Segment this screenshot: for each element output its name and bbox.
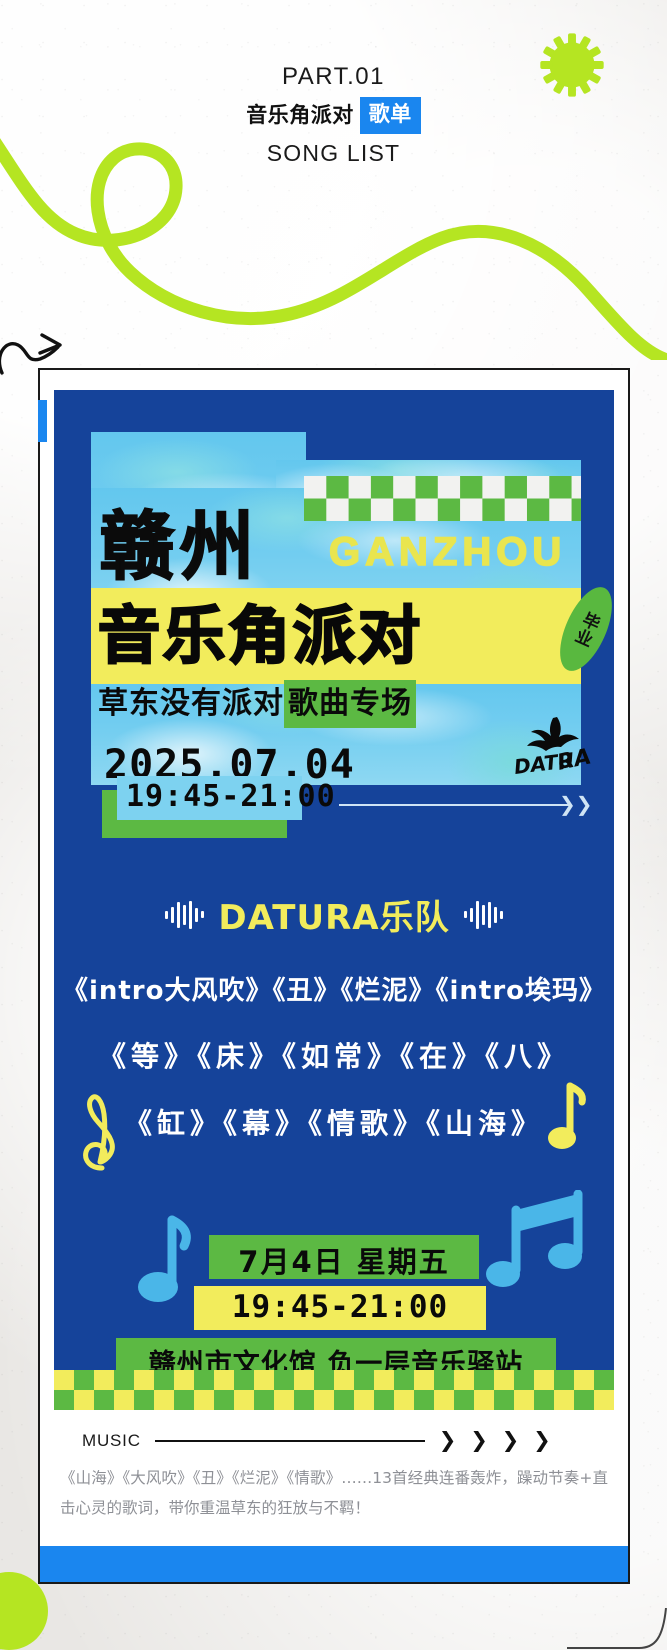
band-name-row: DATURA乐队 (54, 890, 614, 939)
concert-poster: 赣州 GANZHOU 音乐角派对 毕业 草东没有派对 歌曲专场 2025.07.… (54, 390, 614, 1410)
poster-checker-footer (54, 1370, 614, 1410)
poster-main-title: 音乐角派对 (98, 590, 423, 682)
poster-time-big: 19:45-21:00 (194, 1289, 486, 1325)
song-row: 《缸》《幕》《情歌》《山海》 (54, 1102, 614, 1142)
caption-section: MUSIC ❯ ❯ ❯ ❯ 《山海》《大风吹》《丑》《烂泥》《情歌》……13首经… (54, 1428, 614, 1523)
band-name: DATURA乐队 (218, 890, 449, 939)
poster-time: 19:45-21:00 (126, 779, 336, 814)
part-label: PART.01 (0, 62, 667, 92)
poster-city-cn: 赣州 (100, 508, 260, 586)
song-row: 《intro大风吹》《丑》《烂泥》《intro埃玛》 (54, 970, 614, 1007)
beamed-notes-blue-icon (486, 1190, 591, 1300)
poster-subtitle-row: 草东没有派对 歌曲专场 (98, 680, 416, 728)
green-checker-strip (304, 476, 581, 521)
chevron-right-icon: ❯❯ (559, 795, 593, 815)
waveform-right-icon (464, 900, 503, 930)
chevrons-icon: ❯ ❯ ❯ ❯ (439, 1428, 555, 1453)
music-divider-line (155, 1440, 425, 1442)
page-header: PART.01 音乐角派对 歌单 SONG LIST (0, 62, 667, 167)
waveform-left-icon (165, 900, 204, 930)
eighth-note-blue-icon (134, 1208, 194, 1308)
header-tag-badge: 歌单 (360, 97, 421, 134)
song-row: 《等》《床》《如常》《在》《八》 (54, 1035, 614, 1075)
poster-subtitle-highlight: 歌曲专场 (284, 680, 416, 728)
header-chinese-row: 音乐角派对 歌单 (0, 97, 667, 134)
header-cn-title: 音乐角派对 (246, 100, 354, 132)
poster-arrow-line (339, 804, 571, 806)
poster-card-bottom-accent (38, 1546, 630, 1584)
poster-date-cn: 7月4日 星期五 (209, 1239, 479, 1281)
poster-subtitle-plain: 草东没有派对 (98, 682, 284, 726)
caption-body-text: 《山海》《大风吹》《丑》《烂泥》《情歌》……13首经典连番轰炸，躁动节奏+直击心… (54, 1463, 614, 1523)
poster-left-blue-tab (38, 400, 47, 442)
music-divider-row: MUSIC ❯ ❯ ❯ ❯ (54, 1428, 614, 1453)
datura-logo-icon: DATU RA (509, 712, 594, 782)
music-label: MUSIC (82, 1431, 141, 1451)
header-en-title: SONG LIST (0, 140, 667, 167)
poster-city-en: GANZHOU (329, 530, 566, 574)
